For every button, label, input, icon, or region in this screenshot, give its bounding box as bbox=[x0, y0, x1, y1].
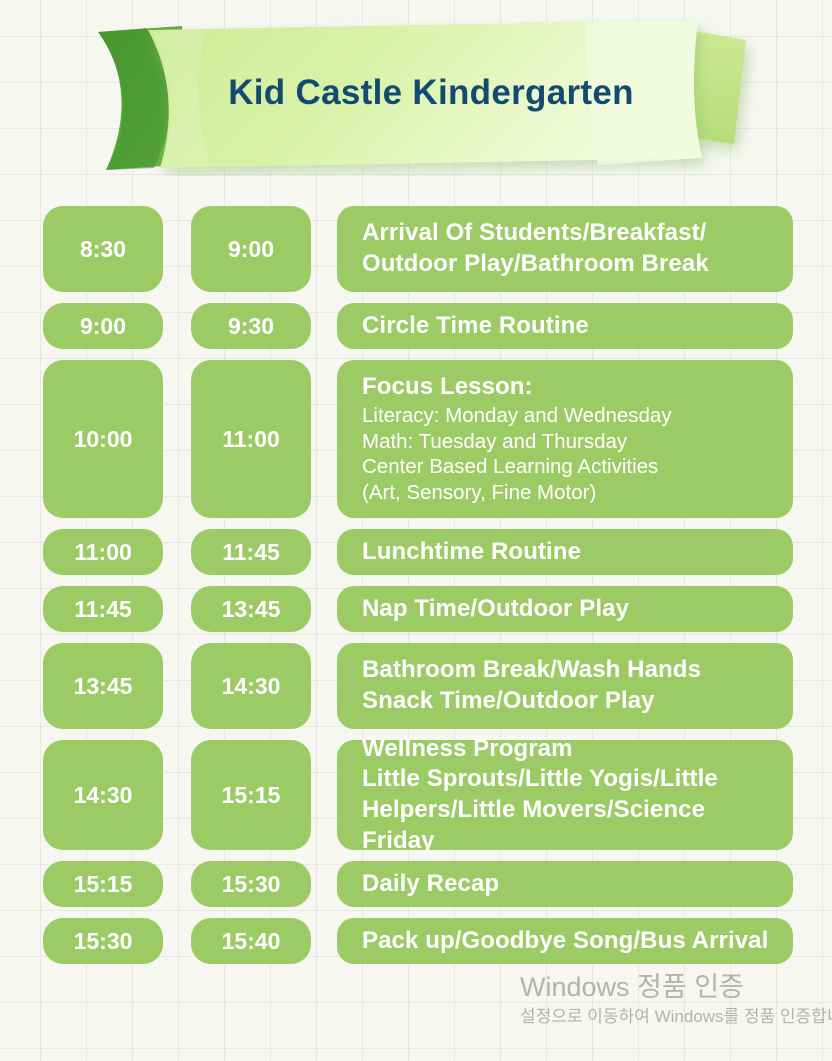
activity-line: Focus Lesson: bbox=[362, 372, 775, 403]
activity-line: Center Based Learning Activities bbox=[362, 454, 775, 480]
start-time-pill: 15:15 bbox=[43, 861, 163, 907]
end-time-pill: 15:30 bbox=[191, 861, 311, 907]
activity-pill: Circle Time Routine bbox=[337, 303, 793, 349]
end-time-pill: 11:00 bbox=[191, 360, 311, 518]
table-row: 10:0011:00Focus Lesson:Literacy: Monday … bbox=[0, 360, 832, 518]
table-row: 11:4513:45Nap Time/Outdoor Play bbox=[0, 586, 832, 632]
schedule-table: 8:309:00Arrival Of Students/Breakfast/Ou… bbox=[0, 206, 832, 975]
page-title: Kid Castle Kindergarten bbox=[86, 18, 758, 168]
activity-line: Bathroom Break/Wash Hands bbox=[362, 655, 775, 686]
table-row: 13:4514:30Bathroom Break/Wash HandsSnack… bbox=[0, 643, 832, 729]
activity-line: Wellness Program bbox=[362, 734, 775, 765]
activity-line: Snack Time/Outdoor Play bbox=[362, 686, 775, 717]
activity-pill: Nap Time/Outdoor Play bbox=[337, 586, 793, 632]
watermark-line-1: Windows 정품 인증 bbox=[520, 972, 820, 1003]
start-time-pill: 10:00 bbox=[43, 360, 163, 518]
end-time-pill: 15:40 bbox=[191, 918, 311, 964]
header-banner: Kid Castle Kindergarten bbox=[86, 18, 758, 176]
activity-pill: Lunchtime Routine bbox=[337, 529, 793, 575]
activity-line: Literacy: Monday and Wednesday bbox=[362, 403, 775, 429]
end-time-pill: 14:30 bbox=[191, 643, 311, 729]
start-time-pill: 9:00 bbox=[43, 303, 163, 349]
activity-line: Circle Time Routine bbox=[362, 311, 775, 342]
end-time-pill: 9:00 bbox=[191, 206, 311, 292]
activity-line: Math: Tuesday and Thursday bbox=[362, 429, 775, 455]
activity-pill: Wellness ProgramLittle Sprouts/Little Yo… bbox=[337, 740, 793, 850]
table-row: 8:309:00Arrival Of Students/Breakfast/Ou… bbox=[0, 206, 832, 292]
activity-line: (Art, Sensory, Fine Motor) bbox=[362, 480, 775, 506]
end-time-pill: 9:30 bbox=[191, 303, 311, 349]
activity-line: Lunchtime Routine bbox=[362, 537, 775, 568]
watermark-line-2: 설정으로 이동하여 Windows를 정품 인증합니다. bbox=[520, 1007, 820, 1027]
start-time-pill: 11:00 bbox=[43, 529, 163, 575]
end-time-pill: 15:15 bbox=[191, 740, 311, 850]
activity-line: Outdoor Play/Bathroom Break bbox=[362, 249, 775, 280]
activity-pill: Daily Recap bbox=[337, 861, 793, 907]
windows-activation-watermark: Windows 정품 인증 설정으로 이동하여 Windows를 정품 인증합니… bbox=[520, 972, 820, 1027]
activity-pill: Focus Lesson:Literacy: Monday and Wednes… bbox=[337, 360, 793, 518]
table-row: 15:3015:40Pack up/Goodbye Song/Bus Arriv… bbox=[0, 918, 832, 964]
activity-line: Daily Recap bbox=[362, 869, 775, 900]
start-time-pill: 11:45 bbox=[43, 586, 163, 632]
end-time-pill: 11:45 bbox=[191, 529, 311, 575]
activity-pill: Bathroom Break/Wash HandsSnack Time/Outd… bbox=[337, 643, 793, 729]
table-row: 9:009:30Circle Time Routine bbox=[0, 303, 832, 349]
start-time-pill: 14:30 bbox=[43, 740, 163, 850]
table-row: 15:1515:30Daily Recap bbox=[0, 861, 832, 907]
start-time-pill: 13:45 bbox=[43, 643, 163, 729]
activity-pill: Pack up/Goodbye Song/Bus Arrival bbox=[337, 918, 793, 964]
activity-line: Arrival Of Students/Breakfast/ bbox=[362, 218, 775, 249]
start-time-pill: 15:30 bbox=[43, 918, 163, 964]
table-row: 11:0011:45Lunchtime Routine bbox=[0, 529, 832, 575]
table-row: 14:3015:15Wellness ProgramLittle Sprouts… bbox=[0, 740, 832, 850]
activity-line: Pack up/Goodbye Song/Bus Arrival bbox=[362, 926, 775, 957]
activity-line: Little Sprouts/Little Yogis/Little bbox=[362, 764, 775, 795]
start-time-pill: 8:30 bbox=[43, 206, 163, 292]
activity-pill: Arrival Of Students/Breakfast/Outdoor Pl… bbox=[337, 206, 793, 292]
activity-line: Nap Time/Outdoor Play bbox=[362, 594, 775, 625]
activity-line: Helpers/Little Movers/Science Friday bbox=[362, 795, 775, 856]
end-time-pill: 13:45 bbox=[191, 586, 311, 632]
